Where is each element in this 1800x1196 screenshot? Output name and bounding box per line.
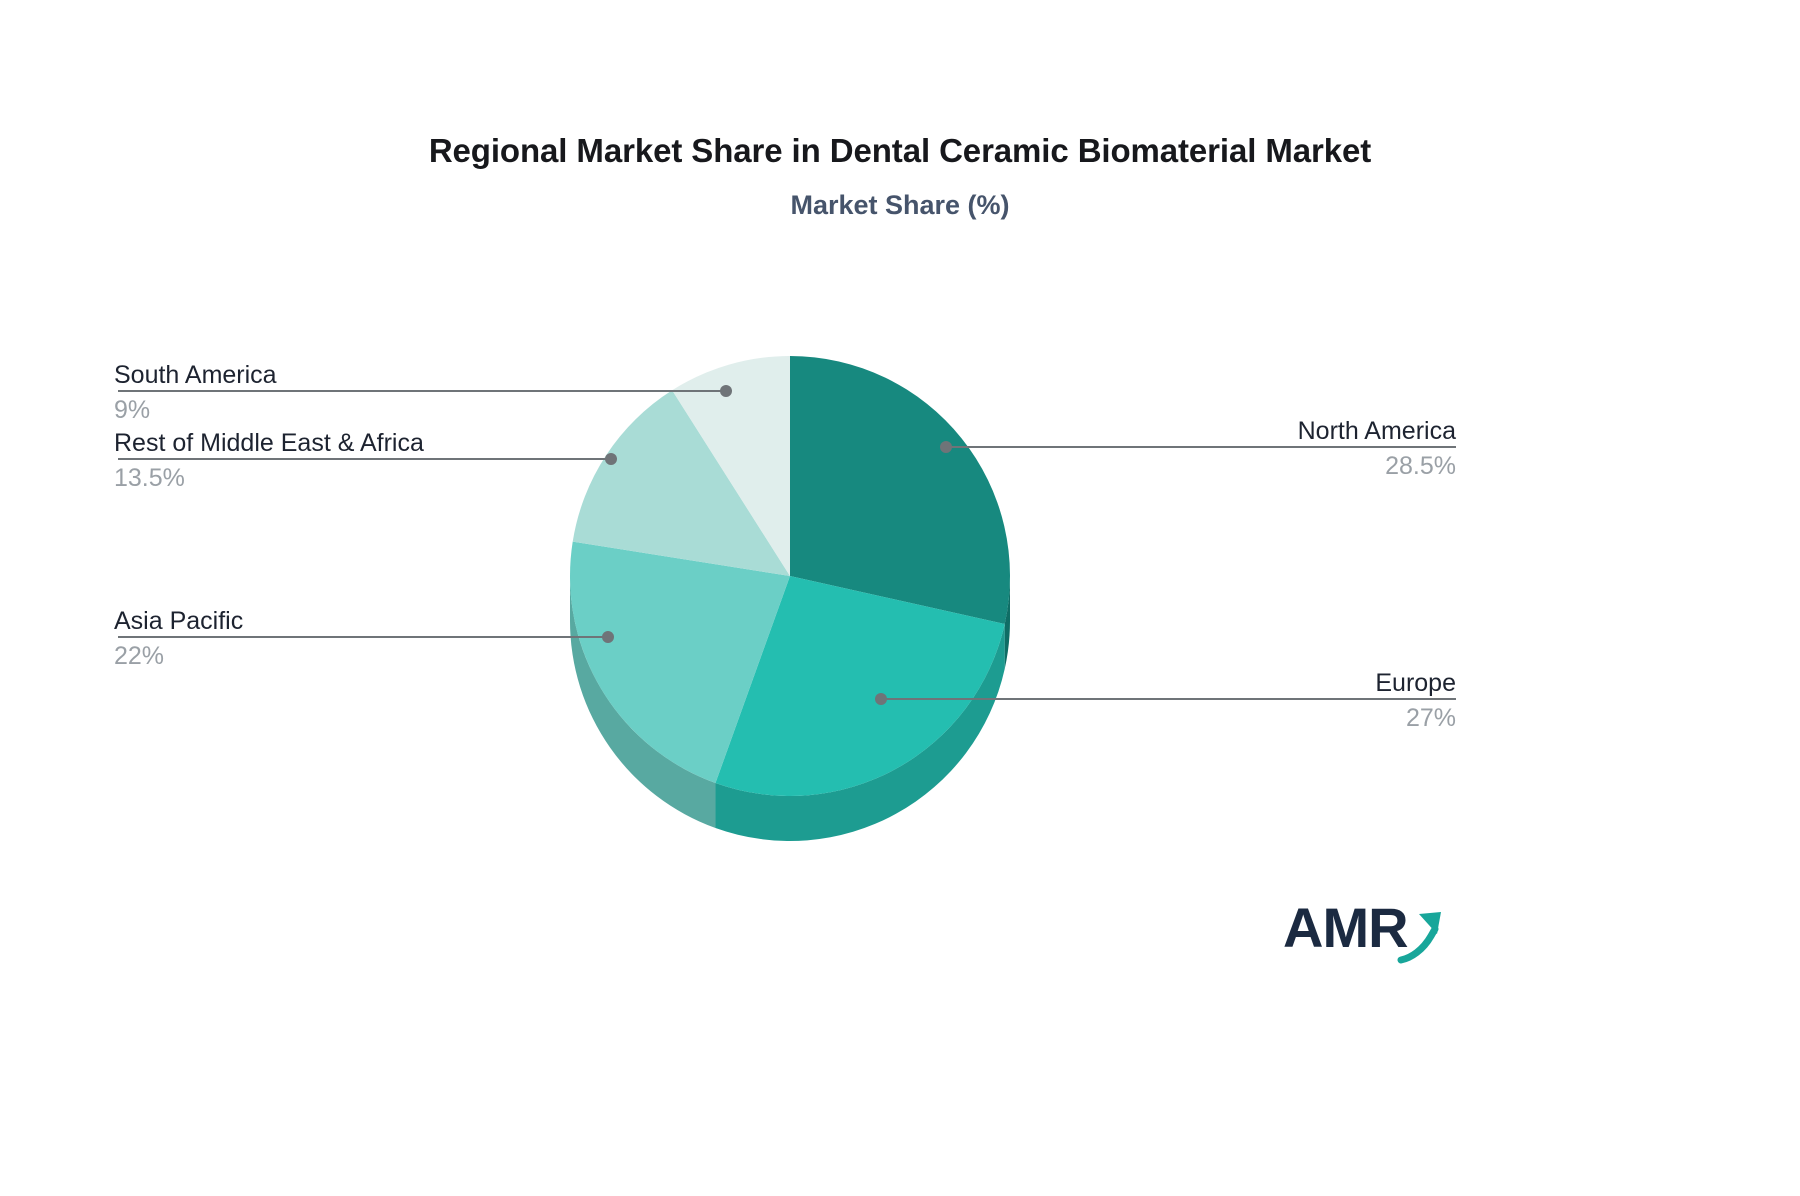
callout-rest-of-mea: Rest of Middle East & Africa 13.5% bbox=[114, 428, 634, 493]
callout-value-rest-of-mea: 13.5% bbox=[114, 463, 634, 493]
callout-label-north-america: North America bbox=[936, 416, 1456, 446]
callout-value-south-america: 9% bbox=[114, 395, 634, 425]
callout-label-south-america: South America bbox=[114, 360, 634, 390]
callout-value-north-america: 28.5% bbox=[936, 451, 1456, 481]
amr-logo: AMR bbox=[1283, 892, 1473, 972]
amr-swoosh-arrow-icon bbox=[1283, 892, 1473, 972]
callout-label-rest-of-mea: Rest of Middle East & Africa bbox=[114, 428, 634, 458]
callout-value-europe: 27% bbox=[936, 703, 1456, 733]
callout-value-asia-pacific: 22% bbox=[114, 641, 634, 671]
chart-canvas: Regional Market Share in Dental Ceramic … bbox=[0, 0, 1800, 1196]
callout-europe: Europe 27% bbox=[936, 668, 1456, 733]
callout-label-europe: Europe bbox=[936, 668, 1456, 698]
callout-north-america: North America 28.5% bbox=[936, 416, 1456, 481]
callout-south-america: South America 9% bbox=[114, 360, 634, 425]
callout-label-asia-pacific: Asia Pacific bbox=[114, 606, 634, 636]
page-title: Regional Market Share in Dental Ceramic … bbox=[0, 132, 1800, 170]
chart-subtitle: Market Share (%) bbox=[0, 190, 1800, 221]
callout-asia-pacific: Asia Pacific 22% bbox=[114, 606, 634, 671]
